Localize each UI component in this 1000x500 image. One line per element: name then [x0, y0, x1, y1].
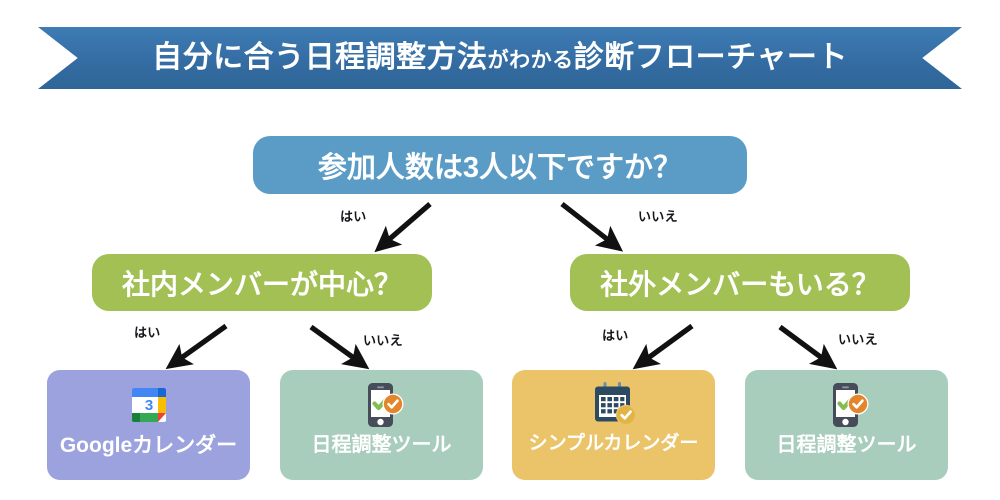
decision-node-internal-members[interactable]: 社内メンバーが中心？ [92, 254, 432, 311]
google-calendar-icon: 3 [123, 379, 175, 431]
result-card-scheduling-tool-right[interactable]: 日程調整ツール [745, 370, 948, 480]
title-segment-primary: 自分に合う日程調整方法 [152, 43, 488, 73]
edge-label-root-yes: はい [340, 206, 367, 225]
title-ribbon: 自分に合う日程調整方法 がわかる 診断フローチャート [38, 27, 962, 89]
smartphone-check-icon [821, 379, 873, 431]
decision-node-internal-members-label: 社内メンバーが中心？ [122, 263, 402, 303]
result-card-google-calendar[interactable]: 3 Googleカレンダー [47, 370, 250, 480]
result-card-google-calendar-label: Googleカレンダー [60, 434, 237, 457]
result-card-scheduling-tool-right-label: 日程調整ツール [777, 434, 917, 456]
edge-label-right-yes: はい [602, 325, 629, 344]
result-card-simple-calendar[interactable]: シンプルカレンダー [512, 370, 715, 480]
smartphone-check-icon [356, 379, 408, 431]
edge-label-left-no: いいえ [363, 330, 403, 349]
edge-label-right-no: いいえ [838, 329, 878, 348]
arrow-external-yes [644, 326, 692, 361]
arrow-internal-no [311, 327, 358, 361]
decision-node-root[interactable]: 参加人数は3人以下ですか？ [253, 136, 747, 194]
result-card-scheduling-tool-left[interactable]: 日程調整ツール [280, 370, 483, 480]
flowchart-root: 自分に合う日程調整方法 がわかる 診断フローチャート 参加人数は3人以下ですか？… [0, 0, 1000, 500]
arrow-root-to-external [562, 204, 612, 243]
decision-node-external-members[interactable]: 社外メンバーもいる？ [570, 254, 910, 311]
arrow-internal-yes [177, 326, 226, 361]
result-card-simple-calendar-label: シンプルカレンダー [529, 434, 699, 455]
title-segment-tertiary: 診断フローチャート [574, 43, 848, 73]
arrow-external-no [780, 327, 826, 361]
decision-node-external-members-label: 社外メンバーもいる？ [600, 263, 879, 303]
result-card-scheduling-tool-left-label: 日程調整ツール [312, 434, 452, 456]
edge-label-root-no: いいえ [638, 206, 678, 225]
page-title: 自分に合う日程調整方法 がわかる 診断フローチャート [152, 43, 848, 73]
decision-node-root-label: 参加人数は3人以下ですか？ [318, 144, 682, 186]
edge-label-left-yes: はい [134, 322, 161, 341]
calendar-check-icon [588, 379, 640, 431]
arrow-root-to-internal [385, 204, 430, 243]
title-segment-secondary: がわかる [488, 50, 574, 71]
google-calendar-day-number: 3 [144, 397, 152, 414]
